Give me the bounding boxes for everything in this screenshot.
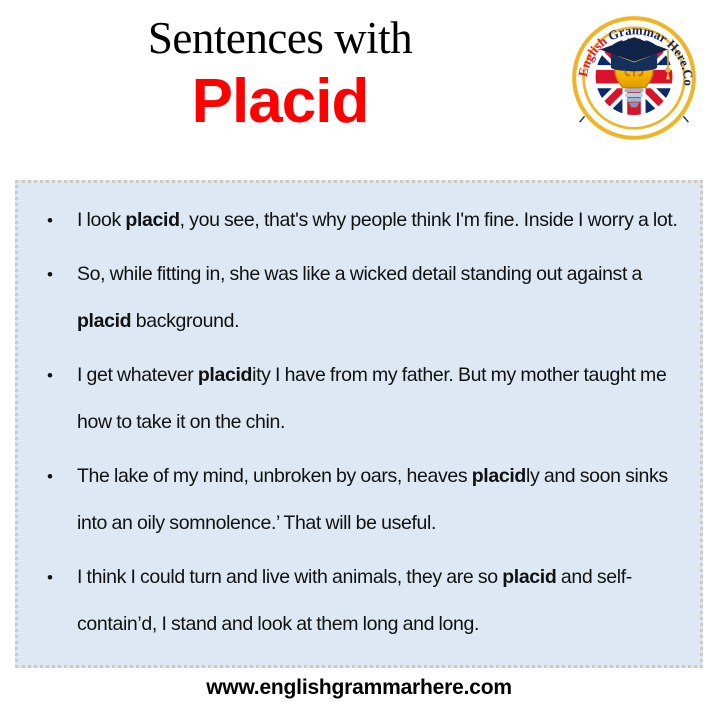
sentences-panel: I look placid, you see, that's why peopl… — [15, 180, 703, 668]
keyword-highlight: placid — [472, 465, 526, 487]
keyword-highlight: placid — [502, 566, 556, 588]
sentence-item: I look placid, you see, that's why peopl… — [36, 197, 682, 244]
sentence-item: So, while fitting in, she was like a wic… — [36, 251, 682, 345]
sentence-text: I look — [77, 209, 125, 231]
sentence-item: I get whatever placidity I have from my … — [36, 352, 682, 446]
page-title-prefix: Sentences with — [0, 16, 560, 61]
sentence-list: I look placid, you see, that's why peopl… — [36, 197, 682, 648]
keyword-highlight: placid — [125, 209, 179, 231]
sentence-item: I think I could turn and live with anima… — [36, 554, 682, 648]
sentence-text: The lake of my mind, unbroken by oars, h… — [77, 465, 472, 487]
keyword-highlight: placid — [77, 310, 131, 332]
sentence-text: , you see, that's why people think I'm f… — [180, 209, 678, 231]
sentence-text: So, while fitting in, she was like a wic… — [77, 263, 642, 285]
english-grammar-here-logo: English Grammar Here.Com — [566, 10, 702, 146]
page-title-keyword: Placid — [0, 69, 560, 134]
page-header: Sentences with Placid — [0, 0, 718, 172]
sentence-item: The lake of my mind, unbroken by oars, h… — [36, 453, 682, 547]
sentence-text: I get whatever — [77, 364, 198, 386]
title-block: Sentences with Placid — [0, 16, 560, 134]
sentence-text: background. — [131, 310, 239, 332]
keyword-highlight: placid — [198, 364, 252, 386]
sentence-text: I think I could turn and live with anima… — [77, 566, 502, 588]
footer-url[interactable]: www.englishgrammarhere.com — [0, 676, 718, 700]
